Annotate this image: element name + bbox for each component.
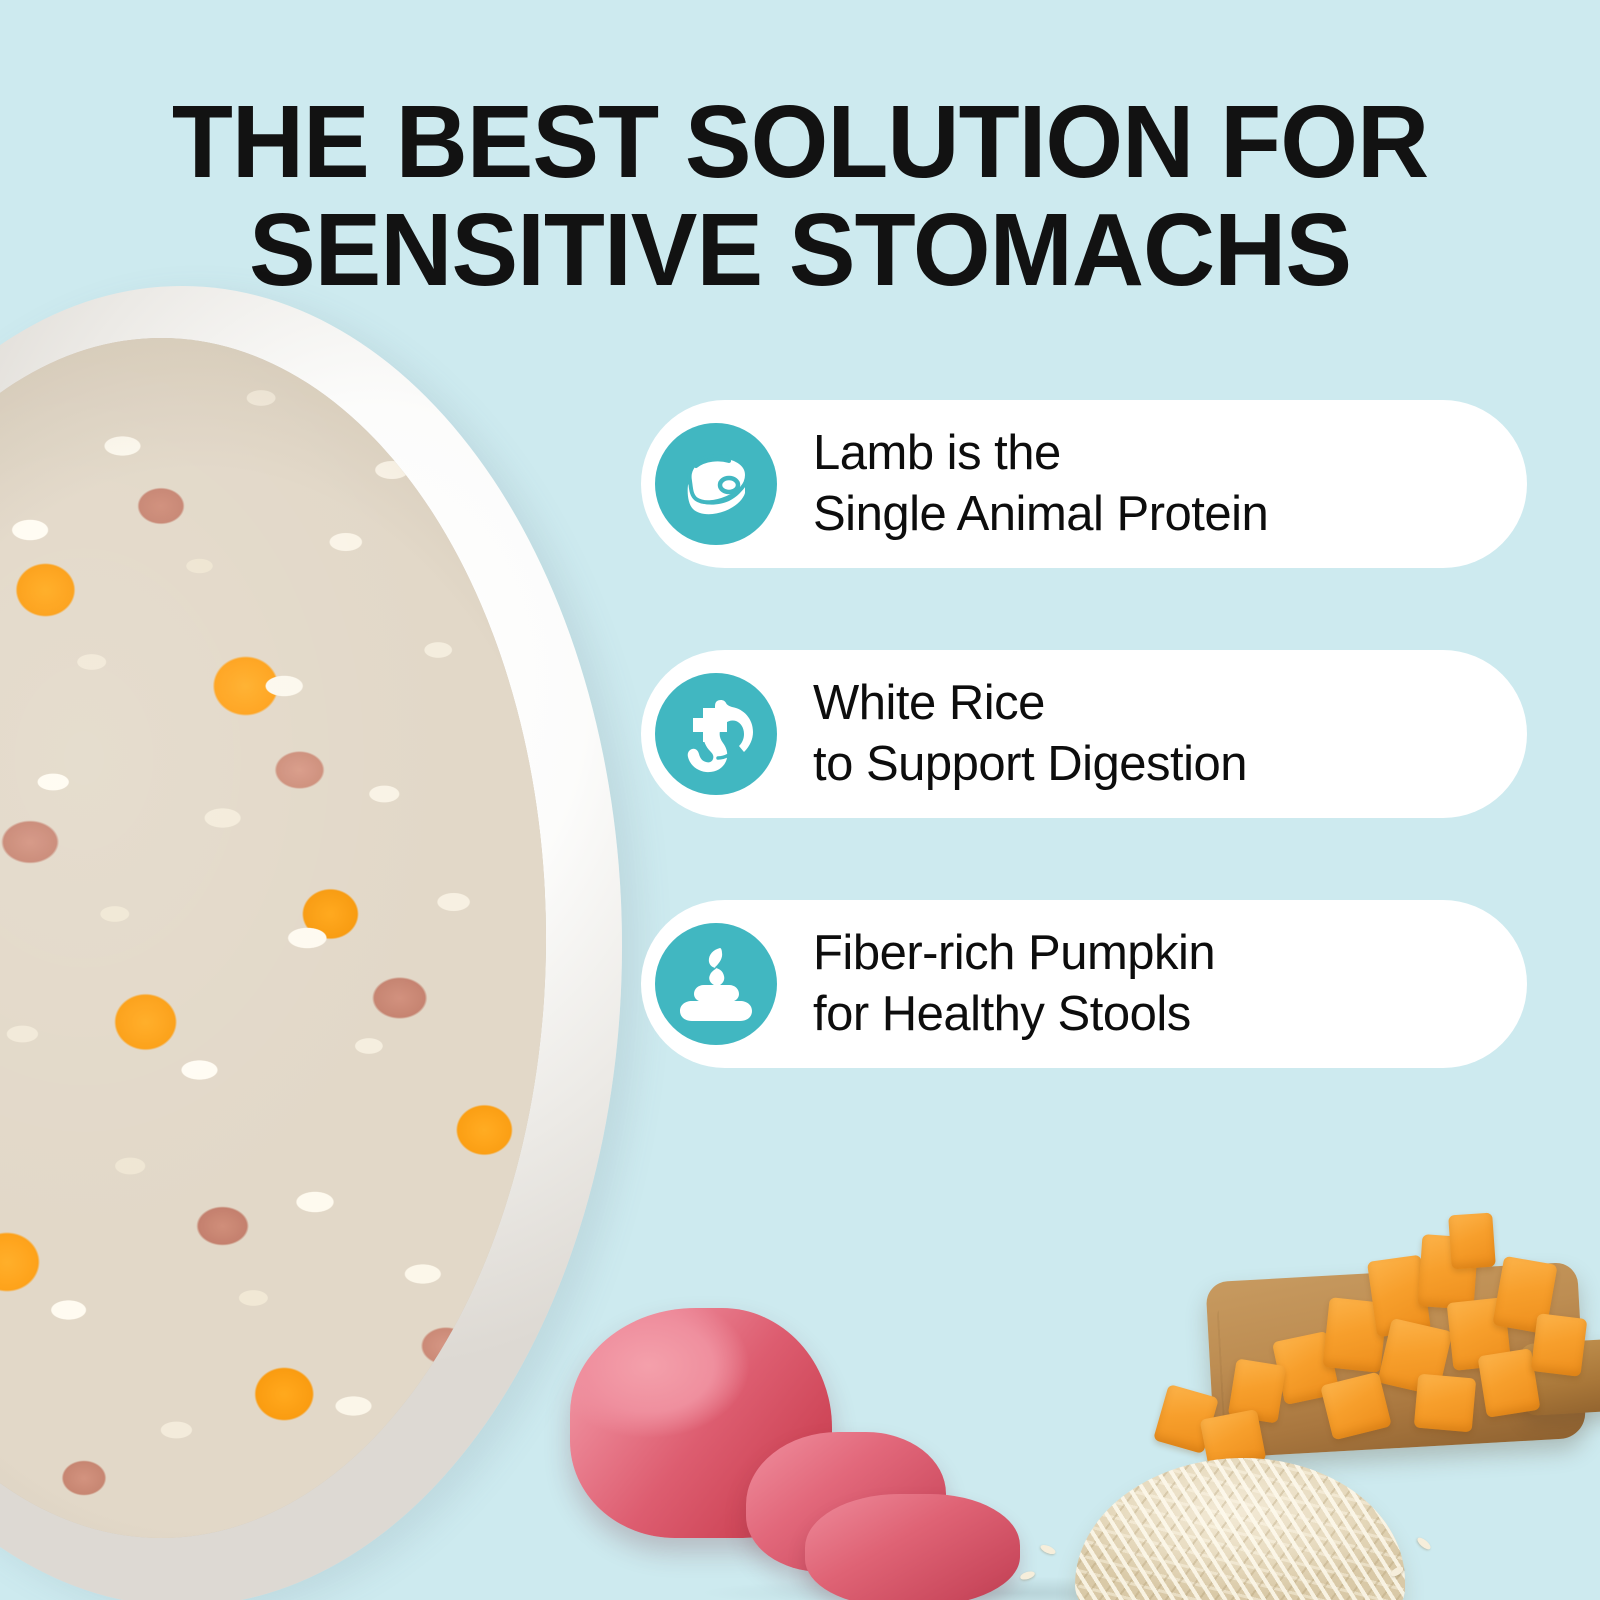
promo-image: THE BEST SOLUTION FOR SENSITIVE STOMACHS <box>0 0 1600 1600</box>
steak-icon <box>655 423 777 545</box>
page-title: THE BEST SOLUTION FOR SENSITIVE STOMACHS <box>24 88 1576 304</box>
feature-card-label: Fiber-rich Pumpkin for Healthy Stools <box>813 923 1215 1045</box>
pumpkin-cube <box>1531 1313 1588 1377</box>
ingredients-image <box>520 1140 1600 1600</box>
pumpkin-cube <box>1448 1213 1496 1270</box>
lamb-cut-small <box>805 1494 1020 1600</box>
feature-card-fiber[interactable]: Fiber-rich Pumpkin for Healthy Stools <box>641 900 1527 1068</box>
stomach-health-icon <box>655 673 777 795</box>
rice-pile <box>1075 1458 1405 1600</box>
stool-icon <box>655 923 777 1045</box>
feature-card-protein[interactable]: Lamb is the Single Animal Protein <box>641 400 1527 568</box>
bowl-interior <box>0 338 546 1538</box>
pumpkin-cube <box>1414 1374 1476 1433</box>
rice-grain <box>1039 1543 1056 1556</box>
rice-grain <box>1416 1536 1433 1552</box>
feature-card-digestion[interactable]: White Rice to Support Digestion <box>641 650 1527 818</box>
feature-card-label: White Rice to Support Digestion <box>813 673 1247 795</box>
feature-card-label: Lamb is the Single Animal Protein <box>813 423 1268 545</box>
food-texture <box>0 338 546 1538</box>
feature-list: Lamb is the Single Animal Protein White … <box>641 400 1531 1150</box>
